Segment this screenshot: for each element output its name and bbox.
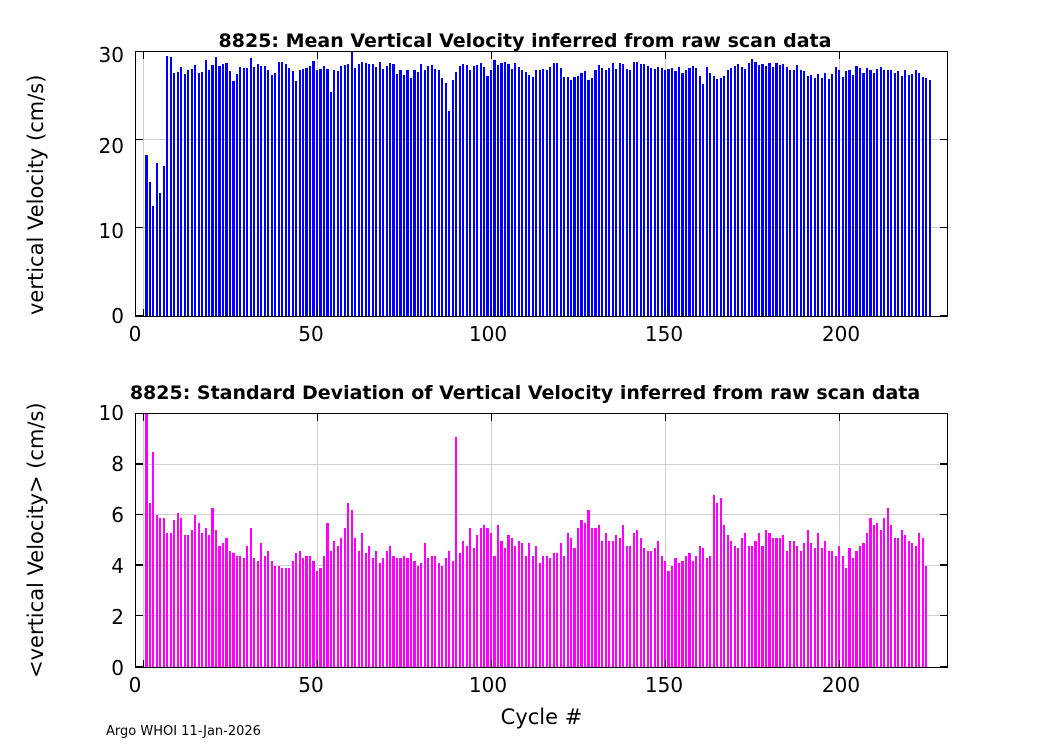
bar <box>222 543 224 667</box>
bar <box>654 69 656 316</box>
bar <box>598 65 600 316</box>
bar <box>211 65 213 316</box>
bar <box>344 528 346 667</box>
axis-tick-y <box>136 615 143 616</box>
bar <box>873 73 875 316</box>
bar <box>748 63 750 316</box>
bar <box>821 78 823 316</box>
bar <box>539 563 541 667</box>
bar <box>560 543 562 667</box>
bar <box>775 538 777 667</box>
bar <box>775 63 777 316</box>
bar <box>278 62 280 316</box>
bar <box>239 67 241 316</box>
bar <box>612 541 614 668</box>
bar <box>842 77 844 316</box>
bar <box>553 63 555 316</box>
bar <box>883 70 885 316</box>
bar <box>556 553 558 667</box>
bar <box>358 551 360 667</box>
bar <box>427 66 429 316</box>
bar <box>876 523 878 667</box>
bar <box>922 538 924 667</box>
bar <box>180 67 182 316</box>
bar <box>159 518 161 667</box>
axis-tick-x <box>143 414 144 421</box>
axis-tick-y <box>136 139 143 140</box>
bar <box>309 66 311 316</box>
bar <box>573 77 575 316</box>
bar <box>511 69 513 316</box>
bar <box>156 163 158 316</box>
bar <box>208 70 210 316</box>
bar <box>758 533 760 667</box>
bar <box>793 541 795 668</box>
bar <box>361 533 363 667</box>
bar <box>257 64 259 316</box>
bar <box>518 541 520 668</box>
bar <box>211 508 213 667</box>
bar <box>267 551 269 667</box>
bar <box>170 57 172 316</box>
y-axis-label-std: <vertical Velocity> (cm/s) <box>24 402 48 678</box>
bar <box>748 546 750 667</box>
x-tick-label-mean-3: 150 <box>639 322 689 346</box>
bar <box>316 70 318 316</box>
axis-tick-y <box>940 514 947 515</box>
bar <box>727 535 729 667</box>
bar <box>323 556 325 667</box>
axis-tick-y <box>136 666 143 667</box>
bar <box>890 70 892 316</box>
bar <box>796 546 798 667</box>
bar <box>507 64 509 316</box>
axis-tick-x <box>317 414 318 421</box>
bar <box>674 71 676 316</box>
bar <box>264 556 266 667</box>
bar <box>591 78 593 316</box>
bar <box>873 525 875 667</box>
bar <box>744 533 746 667</box>
bar <box>709 556 711 667</box>
bar <box>253 67 255 316</box>
bar <box>915 546 917 667</box>
bar <box>368 546 370 667</box>
bar <box>549 558 551 667</box>
bar <box>789 70 791 316</box>
bar <box>626 69 628 316</box>
bar <box>800 551 802 667</box>
bar <box>768 63 770 316</box>
bar <box>177 513 179 667</box>
bar <box>410 78 412 316</box>
axis-tick-y <box>136 227 143 228</box>
bar <box>518 67 520 316</box>
bar <box>323 66 325 316</box>
bar <box>285 568 287 667</box>
axis-tick-x <box>491 52 492 59</box>
bar <box>490 533 492 667</box>
bar <box>807 530 809 667</box>
bar <box>368 64 370 316</box>
bar <box>420 563 422 667</box>
bar <box>601 541 603 668</box>
bar <box>615 69 617 316</box>
bar <box>302 69 304 316</box>
bar <box>556 63 558 316</box>
y-tick-label-std-1: 2 <box>78 605 124 629</box>
bar <box>754 62 756 316</box>
bar <box>629 70 631 316</box>
bar <box>375 551 377 667</box>
bar <box>761 64 763 316</box>
bar <box>782 64 784 316</box>
bar <box>737 64 739 316</box>
axis-tick-x <box>143 309 144 316</box>
axis-tick-y <box>136 514 143 515</box>
bar <box>904 70 906 316</box>
x-tick-label-std-2: 100 <box>463 673 513 697</box>
bar <box>232 81 234 316</box>
bar <box>779 65 781 316</box>
axis-tick-x <box>143 660 144 667</box>
bar <box>159 193 161 316</box>
bar <box>347 503 349 667</box>
plot-area-std[interactable] <box>135 413 948 668</box>
bar <box>765 530 767 667</box>
bar <box>855 66 857 316</box>
bar <box>535 546 537 667</box>
bar <box>149 503 151 667</box>
bar <box>340 538 342 667</box>
bar <box>191 530 193 667</box>
bar <box>145 155 147 316</box>
bar <box>396 558 398 667</box>
bar <box>768 533 770 667</box>
bar <box>417 72 419 316</box>
bar <box>661 68 663 316</box>
bar <box>754 541 756 668</box>
bar <box>201 533 203 667</box>
bar <box>692 66 694 316</box>
bar <box>417 566 419 667</box>
bar <box>229 551 231 667</box>
bar <box>821 548 823 667</box>
axis-tick-y <box>136 564 143 565</box>
bar <box>793 70 795 316</box>
bar <box>580 520 582 667</box>
bar <box>605 70 607 316</box>
bar <box>908 75 910 316</box>
axis-tick-x <box>491 414 492 421</box>
axis-tick-x <box>839 660 840 667</box>
bar <box>500 63 502 316</box>
bar <box>671 566 673 667</box>
bar <box>305 556 307 667</box>
bar <box>340 66 342 316</box>
bar <box>319 568 321 667</box>
bar <box>584 523 586 667</box>
bar <box>601 68 603 316</box>
bar <box>699 76 701 316</box>
bar <box>629 546 631 667</box>
bar <box>560 68 562 316</box>
bar <box>786 67 788 316</box>
bar <box>413 561 415 667</box>
bar <box>796 65 798 316</box>
bar <box>438 563 440 667</box>
bar <box>643 548 645 667</box>
bar <box>667 69 669 316</box>
bar <box>810 75 812 316</box>
bar <box>305 68 307 316</box>
bar <box>420 64 422 316</box>
bar <box>295 553 297 667</box>
chart-title-std: 8825: Standard Deviation of Vertical Vel… <box>0 382 1050 404</box>
bar <box>483 67 485 316</box>
bar <box>177 72 179 316</box>
bar <box>399 558 401 667</box>
bar <box>466 65 468 316</box>
bar <box>688 68 690 316</box>
bar <box>845 71 847 316</box>
bar <box>713 495 715 667</box>
bar <box>577 76 579 316</box>
bar <box>594 70 596 316</box>
axis-tick-x <box>491 309 492 316</box>
bar <box>333 541 335 668</box>
bar <box>285 64 287 316</box>
bar <box>173 73 175 316</box>
bar <box>166 533 168 667</box>
bar <box>855 551 857 667</box>
x-tick-label-std-4: 200 <box>816 673 866 697</box>
bar <box>838 546 840 667</box>
bar <box>288 68 290 316</box>
bar <box>274 73 276 316</box>
bar <box>392 64 394 316</box>
bar <box>500 541 502 668</box>
bar <box>716 503 718 667</box>
bar <box>250 58 252 316</box>
bar <box>215 57 217 316</box>
bar <box>761 546 763 667</box>
bar <box>375 67 377 316</box>
bar <box>716 79 718 316</box>
bar <box>379 62 381 316</box>
bar <box>591 528 593 667</box>
bar <box>831 551 833 667</box>
bar <box>786 551 788 667</box>
bar <box>521 70 523 316</box>
bar <box>587 80 589 316</box>
bar <box>403 75 405 316</box>
bar <box>208 535 210 667</box>
argo-velocity-figure: 8825: Mean Vertical Velocity inferred fr… <box>0 0 1050 750</box>
bar <box>577 528 579 667</box>
bar <box>452 80 454 316</box>
bar <box>887 70 889 316</box>
bar <box>734 66 736 316</box>
bar <box>302 558 304 667</box>
x-tick-label-mean-2: 100 <box>463 322 513 346</box>
bar <box>344 65 346 316</box>
chart-title-mean: 8825: Mean Vertical Velocity inferred fr… <box>0 30 1050 52</box>
bar <box>396 74 398 316</box>
bar <box>817 74 819 316</box>
bar <box>365 553 367 667</box>
bar <box>782 535 784 667</box>
panel-std-vertical-velocity: 8825: Standard Deviation of Vertical Vel… <box>0 360 1050 750</box>
x-tick-label-mean-4: 200 <box>816 322 866 346</box>
bar <box>295 81 297 316</box>
bar <box>239 556 241 667</box>
bar <box>699 546 701 667</box>
bar <box>312 561 314 667</box>
bar <box>758 65 760 316</box>
bar <box>681 73 683 316</box>
bar <box>925 78 927 316</box>
bar <box>636 530 638 667</box>
bar <box>835 556 837 667</box>
bar <box>163 518 165 667</box>
bar <box>535 70 537 316</box>
bar <box>462 541 464 668</box>
bar <box>741 67 743 316</box>
bar <box>730 541 732 668</box>
bar <box>657 541 659 668</box>
axis-tick-y <box>136 413 143 414</box>
bar <box>828 79 830 316</box>
bar <box>434 69 436 316</box>
bar <box>751 546 753 667</box>
bar <box>633 533 635 667</box>
bar <box>399 70 401 316</box>
bar <box>744 69 746 316</box>
bar <box>354 68 356 316</box>
bar <box>647 551 649 667</box>
bar <box>654 548 656 667</box>
axis-tick-y <box>940 564 947 565</box>
bar <box>511 538 513 667</box>
bar <box>493 60 495 316</box>
bar <box>246 546 248 667</box>
bar <box>626 546 628 667</box>
bar <box>198 523 200 667</box>
bar <box>532 77 534 316</box>
bar <box>845 568 847 667</box>
x-tick-label-std-3: 150 <box>639 673 689 697</box>
bar <box>741 538 743 667</box>
bar <box>389 546 391 667</box>
bar <box>810 543 812 667</box>
bar <box>817 533 819 667</box>
bar <box>647 66 649 316</box>
axis-tick-y <box>940 463 947 464</box>
bar <box>852 75 854 316</box>
y-tick-label-std-2: 4 <box>78 554 124 578</box>
bar <box>688 553 690 667</box>
bar <box>225 538 227 667</box>
bar <box>709 73 711 316</box>
bar <box>372 558 374 667</box>
bar <box>918 73 920 316</box>
bar <box>514 63 516 316</box>
bar <box>859 546 861 667</box>
bar <box>424 543 426 667</box>
bar <box>598 525 600 667</box>
bar <box>720 78 722 316</box>
bar <box>925 566 927 667</box>
x-tick-label-mean-1: 50 <box>286 322 336 346</box>
bar <box>894 538 896 667</box>
bar <box>730 68 732 316</box>
bar <box>828 551 830 667</box>
bar <box>640 64 642 316</box>
bar <box>904 535 906 667</box>
axis-tick-x <box>491 660 492 667</box>
plot-area-mean[interactable] <box>135 51 948 317</box>
bar-series <box>136 414 947 667</box>
bar <box>413 70 415 316</box>
bar <box>681 561 683 667</box>
y-tick-label-mean-1: 10 <box>78 219 124 243</box>
bar <box>615 535 617 667</box>
bar <box>702 548 704 667</box>
bar <box>859 68 861 316</box>
axis-tick-y <box>940 666 947 667</box>
bar <box>403 556 405 667</box>
bar <box>619 63 621 316</box>
bar <box>772 538 774 667</box>
axis-tick-x <box>317 52 318 59</box>
bar <box>473 66 475 316</box>
bar <box>198 73 200 316</box>
x-tick-label-std-1: 50 <box>286 673 336 697</box>
bar-series <box>136 52 947 316</box>
bar <box>246 68 248 316</box>
footer-credit: Argo WHOI 11-Jan-2026 <box>106 724 261 739</box>
bar <box>887 508 889 667</box>
axis-tick-y <box>940 615 947 616</box>
bar <box>852 558 854 667</box>
bar <box>232 553 234 667</box>
bar <box>772 67 774 316</box>
bar <box>848 548 850 667</box>
bar <box>525 556 527 667</box>
bar <box>880 530 882 667</box>
bar <box>842 556 844 667</box>
bar <box>253 558 255 667</box>
bar <box>229 71 231 316</box>
bar <box>389 63 391 316</box>
bar <box>807 76 809 316</box>
bar <box>608 68 610 316</box>
bar <box>918 533 920 667</box>
y-tick-label-mean-3: 30 <box>78 43 124 67</box>
bar <box>695 68 697 316</box>
bar <box>184 535 186 667</box>
bar <box>480 63 482 316</box>
bar <box>201 72 203 316</box>
bar <box>661 556 663 667</box>
bar <box>187 70 189 316</box>
bar <box>824 541 826 668</box>
bar <box>257 561 259 667</box>
bar <box>908 541 910 668</box>
bar <box>152 452 154 667</box>
bar <box>563 556 565 667</box>
